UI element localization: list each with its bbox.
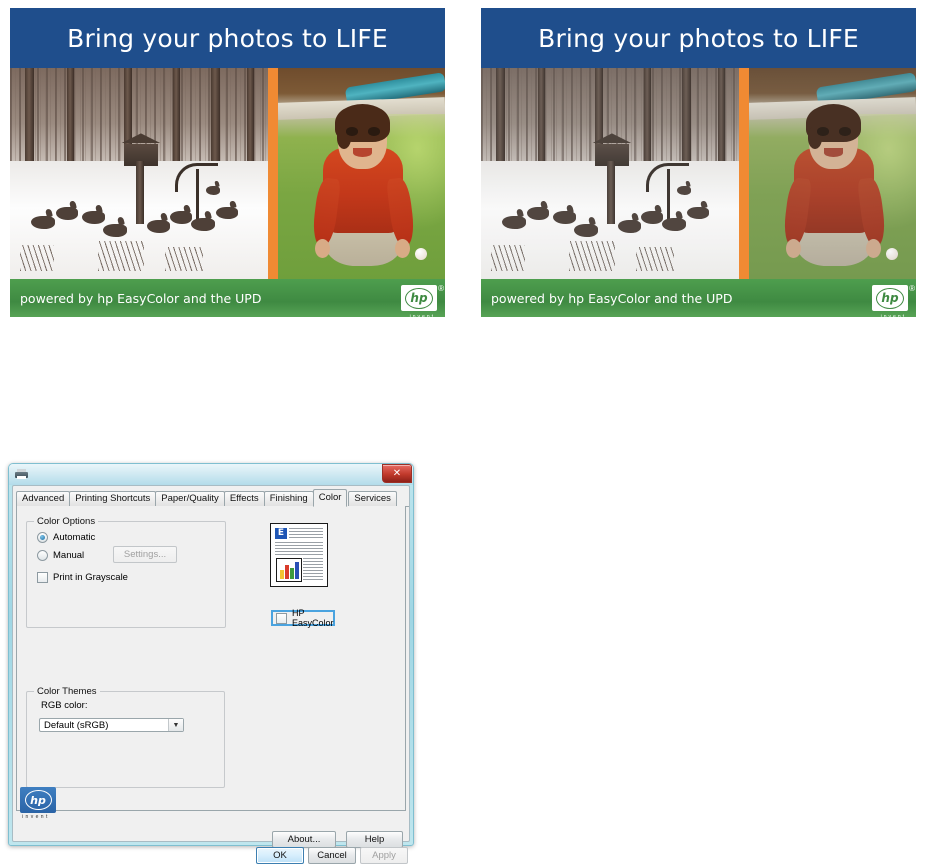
color-options-legend: Color Options: [34, 516, 98, 527]
checkbox-hp-easycolor[interactable]: HP EasyColor: [271, 610, 335, 626]
checkbox-print-in-grayscale[interactable]: Print in Grayscale: [37, 572, 128, 583]
preview-text-lines: [275, 542, 323, 555]
banner-title: Bring your photos to LIFE: [538, 24, 859, 53]
hp-logo-text: hp: [25, 790, 52, 810]
radio-automatic[interactable]: Automatic: [37, 532, 95, 543]
hp-invent-text: invent: [22, 814, 50, 820]
photo-divider: [268, 68, 278, 279]
tab-finishing[interactable]: Finishing: [264, 491, 314, 506]
radio-automatic-label: Automatic: [53, 532, 95, 543]
hp-invent-text: invent: [410, 314, 435, 320]
radio-manual-icon: [37, 550, 48, 561]
marketing-banner-left: Bring your photos to LIFE: [10, 8, 445, 317]
settings-button[interactable]: Settings...: [113, 546, 177, 563]
hp-logo-icon: hp: [20, 787, 56, 813]
rgb-color-value: Default (sRGB): [44, 720, 108, 731]
color-themes-legend: Color Themes: [34, 686, 100, 697]
tab-effects[interactable]: Effects: [224, 491, 265, 506]
registered-mark: ®: [909, 284, 915, 293]
color-themes-group: Color Themes RGB color: Default (sRGB) ▼: [26, 691, 225, 788]
hp-logo-text: hp: [405, 288, 433, 309]
photo-child-grass: [278, 68, 445, 279]
banner-footer-text: powered by hp EasyColor and the UPD: [491, 291, 732, 306]
close-icon[interactable]: ✕: [382, 464, 412, 483]
tab-services[interactable]: Services: [348, 491, 396, 506]
preview-letter-badge: E: [275, 528, 287, 539]
banner-photo-strip: [481, 68, 916, 279]
banner-footer-text: powered by hp EasyColor and the UPD: [20, 291, 261, 306]
hp-logo-text: hp: [876, 288, 904, 309]
about-button[interactable]: About...: [272, 831, 336, 848]
photo-child-grass: [749, 68, 916, 279]
photo-turkeys-snow: [10, 68, 268, 279]
radio-automatic-icon: [37, 532, 48, 543]
banner-footer: powered by hp EasyColor and the UPD hp ®…: [10, 279, 445, 317]
banner-header: Bring your photos to LIFE: [481, 8, 916, 68]
banner-title: Bring your photos to LIFE: [67, 24, 388, 53]
printer-icon: [15, 469, 28, 480]
tab-paper-quality[interactable]: Paper/Quality: [155, 491, 225, 506]
marketing-banner-right: Bring your photos to LIFE: [481, 8, 916, 317]
checkbox-grayscale-icon: [37, 572, 48, 583]
tab-color[interactable]: Color: [313, 489, 348, 507]
registered-mark: ®: [438, 284, 444, 293]
tab-advanced[interactable]: Advanced: [16, 491, 70, 506]
checkbox-hp-easycolor-icon: [276, 613, 287, 624]
rgb-color-label: RGB color:: [41, 700, 87, 711]
dialog-titlebar[interactable]: ✕: [9, 464, 413, 485]
radio-manual[interactable]: Manual: [37, 550, 84, 561]
photo-divider: [739, 68, 749, 279]
chevron-down-icon[interactable]: ▼: [168, 719, 183, 731]
radio-manual-label: Manual: [53, 550, 84, 561]
banner-photo-strip: [10, 68, 445, 279]
checkbox-hp-easycolor-label: HP EasyColor: [292, 608, 334, 628]
rgb-color-select[interactable]: Default (sRGB) ▼: [39, 718, 184, 732]
hp-invent-text: invent: [881, 314, 906, 320]
tab-bar: Advanced Printing Shortcuts Paper/Qualit…: [16, 490, 409, 507]
hp-logo-icon: hp ® invent: [401, 285, 437, 311]
tab-printing-shortcuts[interactable]: Printing Shortcuts: [69, 491, 156, 506]
hp-logo-icon: hp ® invent: [872, 285, 908, 311]
color-tab-panel: Color Options Automatic Manual Settings.…: [16, 506, 406, 811]
preview-bar-chart-icon: [276, 558, 302, 582]
banner-header: Bring your photos to LIFE: [10, 8, 445, 68]
banner-footer: powered by hp EasyColor and the UPD hp ®…: [481, 279, 916, 317]
preview-text-lines: [289, 528, 323, 539]
print-preview-thumbnail: E: [270, 523, 328, 587]
help-button[interactable]: Help: [346, 831, 403, 848]
printer-properties-dialog: ✕ Advanced Printing Shortcuts Paper/Qual…: [8, 463, 414, 846]
photo-turkeys-snow: [481, 68, 739, 279]
preview-text-lines: [303, 558, 323, 580]
color-options-group: Color Options Automatic Manual Settings.…: [26, 521, 226, 628]
checkbox-grayscale-label: Print in Grayscale: [53, 572, 128, 583]
dialog-body: Advanced Printing Shortcuts Paper/Qualit…: [12, 485, 410, 842]
